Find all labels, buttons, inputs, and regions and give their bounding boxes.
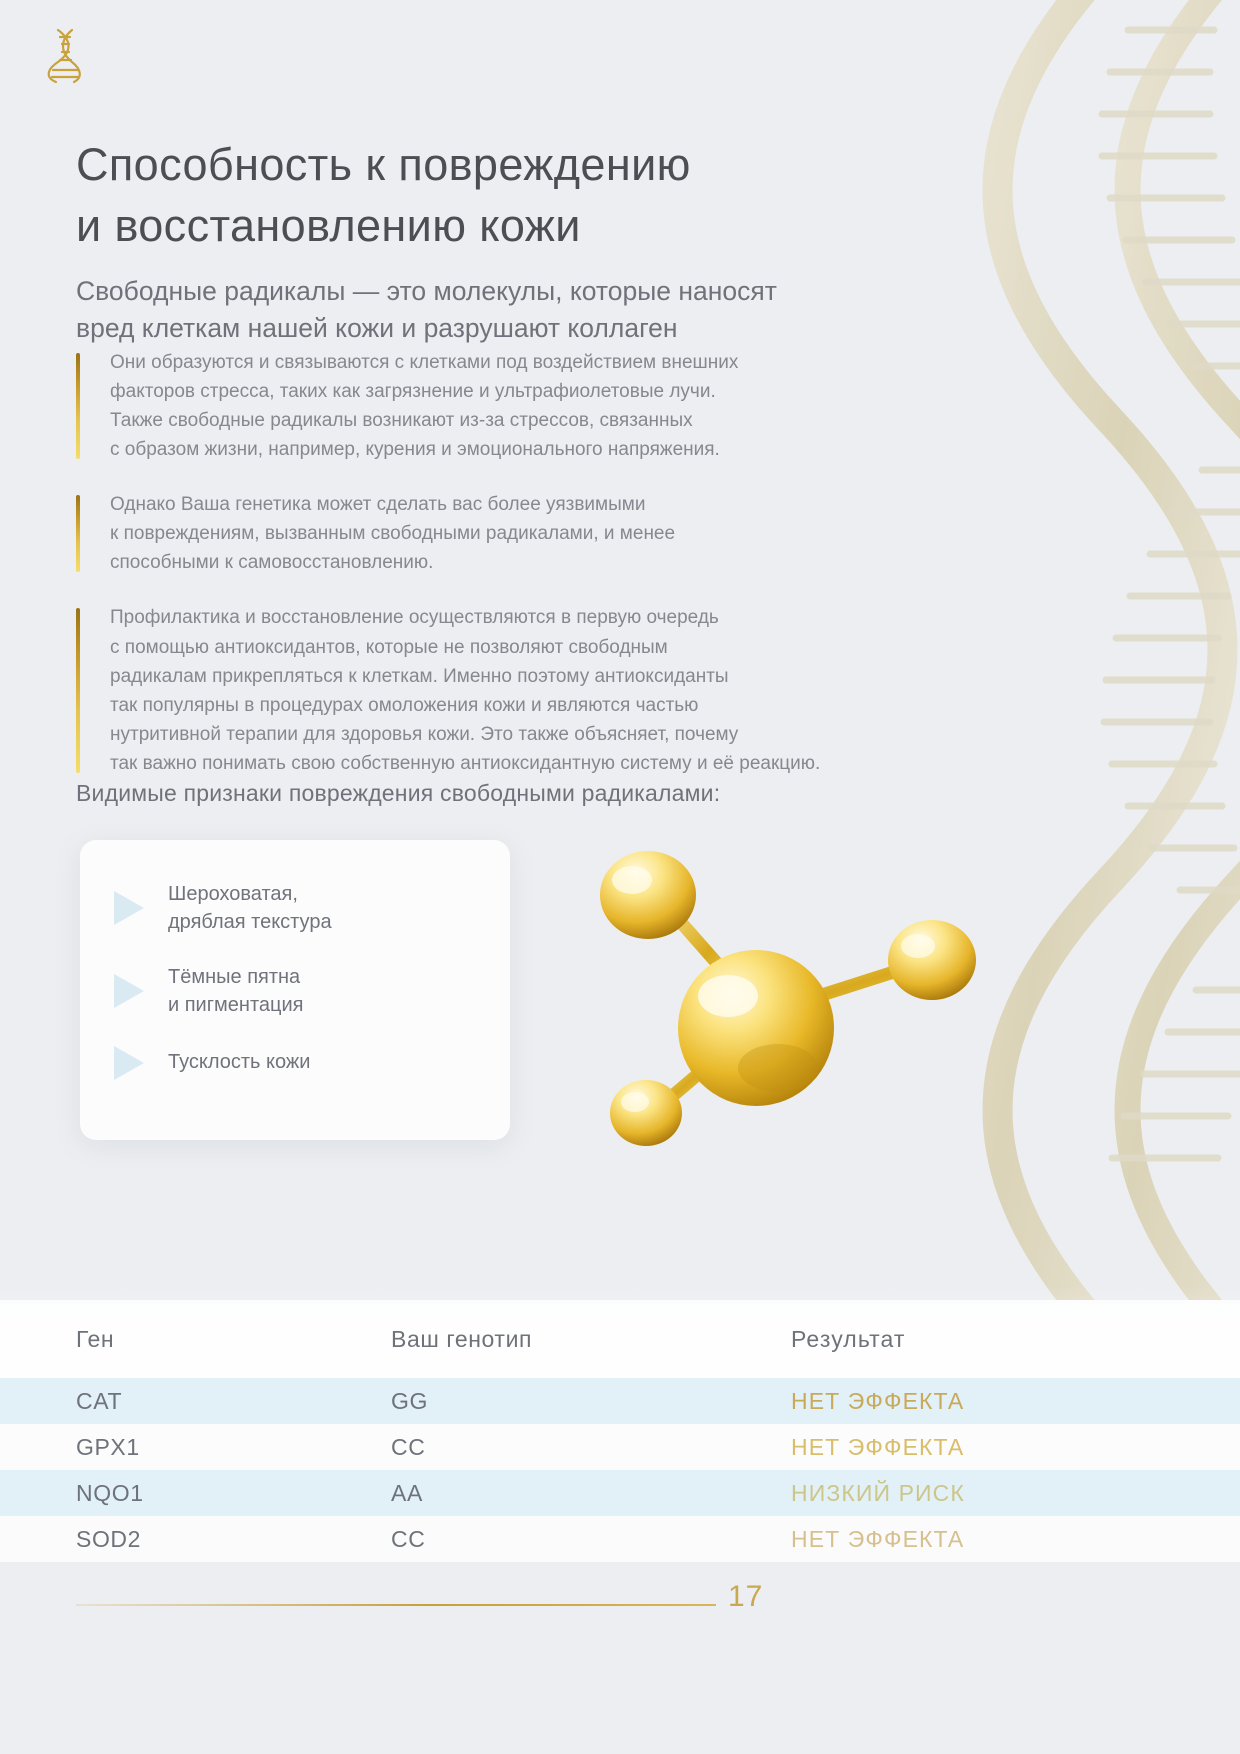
list-item: Шероховатая, дряблая текстура [106,880,484,937]
report-page: Способность к повреждениюи восстановлени… [0,0,1240,1754]
paragraph-block: Они образуются и связываются с клетками … [76,348,956,464]
cell-genotype: GG [391,1388,791,1415]
gold-accent-bar [76,353,80,459]
results-table: Ген Ваш генотип Результат CAT GG НЕТ ЭФФ… [0,1300,1240,1562]
cell-gene: NQO1 [76,1480,391,1507]
gold-accent-bar [76,608,80,772]
column-header-result: Результат [791,1326,1164,1353]
triangle-right-icon [114,1046,144,1080]
column-header-genotype: Ваш генотип [391,1326,791,1353]
signs-card: Шероховатая, дряблая текстура Тёмные пят… [80,840,510,1140]
dna-logo-icon [42,26,88,84]
cell-result: НЕТ ЭФФЕКТА [791,1526,1164,1553]
paragraph-text: Они образуются и связываются с клетками … [110,348,956,464]
column-header-gene: Ген [76,1326,391,1353]
paragraph-block: Профилактика и восстановление осуществля… [76,603,956,777]
gold-accent-bar [76,495,80,572]
molecule-illustration [560,830,1020,1160]
table-row: SOD2 CC НЕТ ЭФФЕКТА [0,1516,1240,1562]
sign-label: Тусклость кожи [168,1048,310,1076]
cell-gene: SOD2 [76,1526,391,1553]
cell-result: НЕТ ЭФФЕКТА [791,1434,1164,1461]
page-title: Способность к повреждениюи восстановлени… [76,134,976,256]
list-item: Тусклость кожи [106,1046,484,1080]
table-row: CAT GG НЕТ ЭФФЕКТА [0,1378,1240,1424]
cell-genotype: CC [391,1526,791,1553]
list-item: Тёмные пятна и пигментация [106,963,484,1020]
footer-divider [76,1604,716,1606]
sign-label: Тёмные пятна и пигментация [168,963,303,1020]
cell-result: НЕТ ЭФФЕКТА [791,1388,1164,1415]
sign-label: Шероховатая, дряблая текстура [168,880,332,937]
cell-result: НИЗКИЙ РИСК [791,1480,1164,1507]
page-title-line2: и восстановлению кожи [76,200,581,251]
paragraph-list: Они образуются и связываются с клетками … [76,348,956,778]
paragraph-text: Однако Ваша генетика может сделать вас б… [110,490,956,577]
page-number: 17 [728,1580,763,1614]
signs-heading: Видимые признаки повреждения свободными … [76,780,720,807]
cell-gene: CAT [76,1388,391,1415]
paragraph-block: Однако Ваша генетика может сделать вас б… [76,490,956,577]
table-header-row: Ген Ваш генотип Результат [0,1300,1240,1378]
signs-list: Шероховатая, дряблая текстура Тёмные пят… [80,840,510,1080]
cell-genotype: CC [391,1434,791,1461]
triangle-right-icon [114,974,144,1008]
paragraph-text: Профилактика и восстановление осуществля… [110,603,956,777]
cell-genotype: AA [391,1480,791,1507]
triangle-right-icon [114,891,144,925]
page-title-line1: Способность к повреждению [76,139,691,190]
cell-gene: GPX1 [76,1434,391,1461]
table-row: GPX1 CC НЕТ ЭФФЕКТА [0,1424,1240,1470]
page-subtitle: Свободные радикалы — это молекулы, котор… [76,273,956,348]
table-row: NQO1 AA НИЗКИЙ РИСК [0,1470,1240,1516]
